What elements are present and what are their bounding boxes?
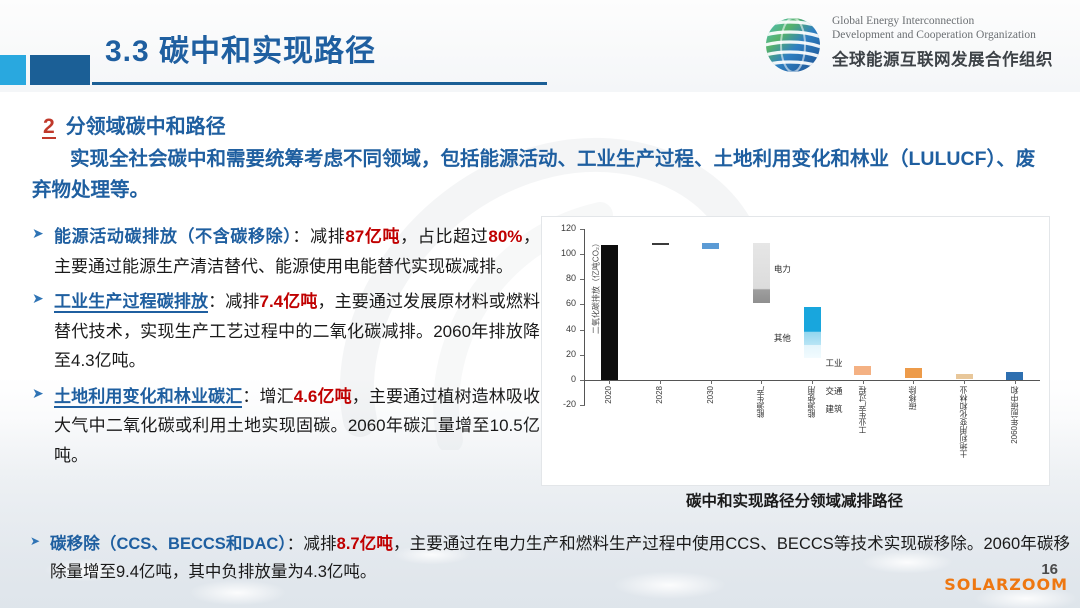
chart-y-tick-label: 80 [550, 274, 576, 283]
chart-x-tick-mark [660, 380, 661, 384]
bullet-arrow-icon: ➤ [32, 291, 44, 305]
bullet-text: 碳移除（CCS、BECCS和DAC）：减排8.7亿吨，主要通过在电力生产和燃料生… [50, 530, 1070, 586]
bullet-highlight-value: 4.6亿吨 [294, 387, 352, 406]
section-heading: 2分领域碳中和路径 [42, 110, 226, 139]
chart-x-tick-label: 能源生产 [756, 386, 765, 418]
section-number: 2 [42, 116, 56, 139]
chart-x-tick-mark [711, 380, 712, 384]
list-item: ➤ 工业生产过程碳排放：减排7.4亿吨，主要通过发展原材料或燃料替代技术，实现生… [28, 287, 540, 376]
chart-bar [702, 243, 719, 249]
chart-x-tick-label: 2030 [706, 386, 715, 404]
globe-grid-icon [762, 14, 824, 76]
chart-bar [804, 307, 821, 359]
chart-x-tick-mark [964, 380, 965, 384]
chart-bar [956, 374, 973, 380]
header-underline [92, 82, 547, 85]
header-accent-square-light [0, 55, 26, 85]
chart-x-tick-mark [609, 380, 610, 384]
chart-segment-label: 建筑 [826, 403, 843, 415]
chart-bar [905, 368, 922, 378]
bullet-separator: ： [292, 227, 310, 246]
bullet-pre: 减排 [303, 535, 336, 553]
chart-y-tick-label: 100 [550, 249, 576, 258]
chart-segment-label: 其他 [774, 332, 791, 344]
bullet-lead: 碳移除（CCS、BECCS和DAC） [50, 535, 287, 553]
chart-y-tick-label: -20 [550, 400, 576, 409]
chart-x-tick-label: 工业生产过程 [858, 386, 867, 434]
chart-bar [854, 366, 871, 375]
bullet-lead: 土地利用变化和林业碳汇 [54, 387, 242, 408]
bullet-highlight-value: 7.4亿吨 [260, 292, 318, 311]
bullet-arrow-icon: ➤ [32, 386, 44, 400]
bullet-text: 能源活动碳排放（不含碳移除）：减排87亿吨，占比超过80%，主要通过能源生产清洁… [54, 222, 540, 281]
list-item: ➤ 能源活动碳排放（不含碳移除）：减排87亿吨，占比超过80%，主要通过能源生产… [28, 222, 540, 281]
chart-x-tick-mark [812, 380, 813, 384]
bullet-list: ➤ 能源活动碳排放（不含碳移除）：减排87亿吨，占比超过80%，主要通过能源生产… [28, 222, 540, 476]
chart-bar [601, 245, 618, 380]
section-intro: 实现全社会碳中和需要统筹考虑不同领域，包括能源活动、工业生产过程、土地利用变化和… [32, 144, 1048, 206]
chart-caption: 碳中和实现路径分领域减排路径 [541, 489, 1048, 511]
chart-x-tick-label: 碳移除 [908, 386, 917, 410]
bullet-separator: ： [287, 535, 304, 553]
chart-bar [652, 243, 669, 245]
chart-segment-label: 电力 [774, 263, 791, 275]
chart-x-tick-label: 2028 [655, 386, 664, 404]
bullet-arrow-icon: ➤ [30, 534, 40, 548]
chart-x-tick-label: 2060年前碳中和 [1010, 386, 1019, 444]
chart-x-tick-label: 土地利用变化和林业 [959, 386, 968, 458]
logo-en-line2: Development and Cooperation Organization [832, 28, 1067, 42]
chart-y-tick-mark [580, 405, 585, 406]
chart-plot-area: -20020406080100120202020282030能源生产能源使用工业… [542, 217, 1049, 485]
chart-y-tick-label: 0 [550, 375, 576, 384]
organization-logo: Global Energy Interconnection Developmen… [762, 10, 1067, 80]
chart-y-axis [584, 229, 585, 405]
waterfall-chart: 二氧化碳排放（亿吨CO₂） -2002040608010012020202028… [541, 216, 1050, 486]
bullet-arrow-icon: ➤ [32, 226, 44, 240]
chart-y-tick-label: 60 [550, 299, 576, 308]
chart-bar [753, 243, 770, 303]
bullet-text: 工业生产过程碳排放：减排7.4亿吨，主要通过发展原材料或燃料替代技术，实现生产工… [54, 287, 540, 376]
bullet-lead: 能源活动碳排放（不含碳移除） [54, 227, 292, 246]
bullet-text: 土地利用变化和林业碳汇：增汇4.6亿吨，主要通过植树造林吸收大气中二氧化碳或利用… [54, 382, 540, 471]
bullet-pre: 增汇 [260, 387, 294, 406]
logo-chinese-name: 全球能源互联网发展合作组织 [832, 46, 1053, 70]
list-item-wide: ➤ 碳移除（CCS、BECCS和DAC）：减排8.7亿吨，主要通过在电力生产和燃… [28, 530, 1070, 586]
watermark-solarzoom: SOLARZOOM [944, 575, 1068, 594]
bullet-separator: ： [208, 292, 225, 311]
chart-y-tick-label: 20 [550, 350, 576, 359]
chart-segment-label: 工业 [826, 357, 843, 369]
bullet-highlight-value: 87亿吨 [345, 227, 400, 246]
chart-x-tick-label: 能源使用 [807, 386, 816, 418]
chart-x-tick-mark [863, 380, 864, 384]
chart-x-tick-mark [761, 380, 762, 384]
chart-x-tick-mark [913, 380, 914, 384]
chart-x-tick-label: 2020 [604, 386, 613, 404]
bullet-separator: ： [242, 387, 259, 406]
chart-bar [1006, 372, 1023, 380]
bullet-highlight-value-2: 80% [488, 227, 522, 246]
bullet-highlight-value: 8.7亿吨 [337, 535, 393, 553]
logo-english-name: Global Energy Interconnection Developmen… [832, 14, 1067, 42]
bullet-lead: 工业生产过程碳排放 [54, 292, 208, 313]
page-title: 3.3 碳中和实现路径 [105, 26, 376, 70]
logo-en-line1: Global Energy Interconnection [832, 14, 1067, 28]
bullet-pre: 减排 [225, 292, 259, 311]
bullet-mid: ，占比超过 [400, 227, 488, 246]
chart-x-tick-mark [1015, 380, 1016, 384]
section-title: 分领域碳中和路径 [66, 110, 226, 139]
chart-y-tick-label: 40 [550, 325, 576, 334]
chart-y-tick-label: 120 [550, 224, 576, 233]
header-accent-square-dark [30, 55, 90, 85]
chart-segment-label: 交通 [826, 385, 843, 397]
list-item: ➤ 土地利用变化和林业碳汇：增汇4.6亿吨，主要通过植树造林吸收大气中二氧化碳或… [28, 382, 540, 471]
bullet-pre: 减排 [310, 227, 345, 246]
slide-canvas: 3.3 碳中和实现路径 [0, 0, 1080, 608]
